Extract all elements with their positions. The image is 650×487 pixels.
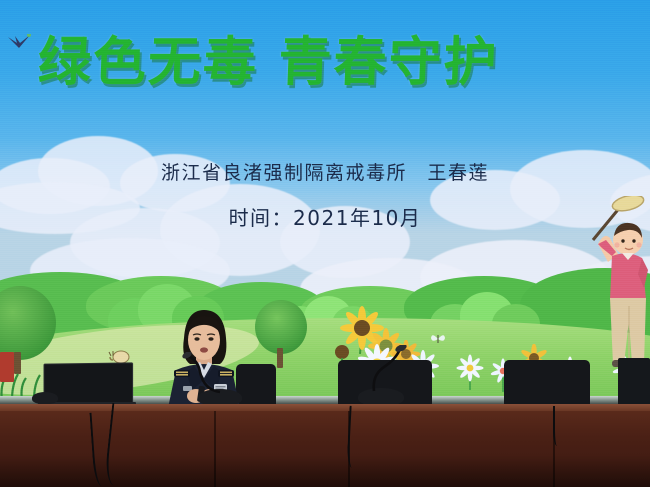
daisy-icon (456, 354, 486, 395)
lecture-photo: 绿色无毒 青春守护 浙江省良渚强制隔离戒毒所 王春莲 时间：2021年10月 (0, 0, 650, 487)
projected-slide: 绿色无毒 青春守护 浙江省良渚强制隔离戒毒所 王春莲 时间：2021年10月 (0, 0, 650, 404)
bird-icon (6, 34, 32, 50)
cartoon-boy-with-butterfly-net (588, 196, 650, 368)
slide-title: 绿色无毒 青春守护 (37, 36, 650, 89)
cable (553, 406, 563, 446)
slide-date-line: 时间：2021年10月 (0, 202, 650, 231)
slide-organization-line: 浙江省良渚强制隔离戒毒所 王春莲 (0, 158, 650, 185)
name-plate (0, 352, 14, 382)
monitor (618, 358, 650, 406)
conference-chair (504, 360, 590, 406)
butterfly-icon (430, 332, 446, 346)
